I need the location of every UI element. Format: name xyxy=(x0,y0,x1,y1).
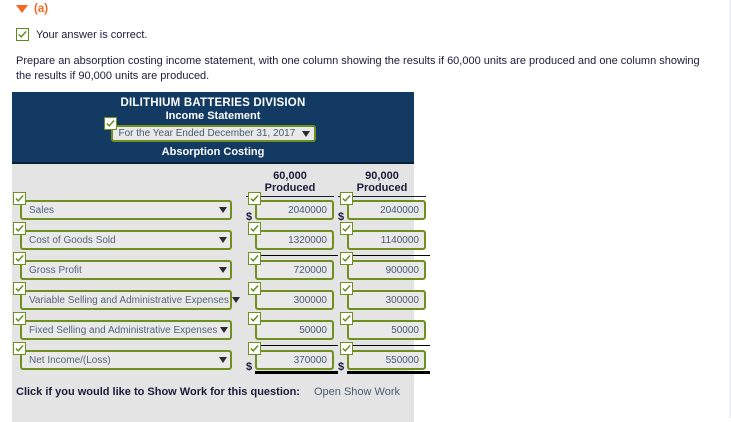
correct-badge-icon xyxy=(13,312,26,325)
table-row: Fixed Selling and Administrative Expense… xyxy=(12,320,414,346)
company-name: DILITHIUM BATTERIES DIVISION xyxy=(12,97,414,109)
account-select-wrapper: Sales xyxy=(20,200,232,220)
correct-badge-icon xyxy=(248,252,261,265)
amount-input[interactable]: 50000 xyxy=(255,320,334,340)
amount-cell: 50000 xyxy=(347,320,426,340)
amount-cell: $550000 xyxy=(347,350,426,370)
correct-badge-icon xyxy=(248,192,261,205)
amount-cell: 300000 xyxy=(255,290,334,310)
part-label: (a) xyxy=(34,3,48,15)
account-select-wrapper: Variable Selling and Administrative Expe… xyxy=(20,290,232,310)
account-select-wrapper: Cost of Goods Sold xyxy=(20,230,232,250)
statement-body: 60,000 Produced 90,000 Produced Sales$20… xyxy=(12,164,414,422)
column-headers: 60,000 Produced 90,000 Produced xyxy=(12,164,414,198)
amount-input[interactable]: 2040000 xyxy=(347,200,426,220)
amount-input[interactable]: 2040000 xyxy=(255,200,334,220)
chevron-down-icon[interactable] xyxy=(219,207,227,213)
amount-input[interactable]: 900000 xyxy=(347,260,426,280)
report-name: Income Statement xyxy=(12,110,414,122)
account-select[interactable]: Cost of Goods Sold xyxy=(20,230,232,250)
period-select[interactable]: For the Year Ended December 31, 2017 xyxy=(111,125,316,142)
account-select-wrapper: Net Income/(Loss) xyxy=(20,350,232,370)
amount-input[interactable]: 50000 xyxy=(347,320,426,340)
subtotal-rule xyxy=(255,345,338,346)
correct-badge-icon xyxy=(13,342,26,355)
correct-badge-icon xyxy=(248,282,261,295)
amount-cell: 1320000 xyxy=(255,230,334,250)
account-value: Gross Profit xyxy=(29,265,216,276)
correct-badge-icon xyxy=(340,252,353,265)
amount-input[interactable]: 1320000 xyxy=(255,230,334,250)
amount-input[interactable]: 550000 xyxy=(347,350,426,370)
amount-cell: $2040000 xyxy=(255,200,334,220)
correct-badge-icon xyxy=(340,282,353,295)
correct-badge-icon xyxy=(13,192,26,205)
account-select[interactable]: Variable Selling and Administrative Expe… xyxy=(20,290,232,310)
correct-badge-icon xyxy=(340,342,353,355)
currency-symbol: $ xyxy=(338,361,344,373)
income-statement-table: DILITHIUM BATTERIES DIVISION Income Stat… xyxy=(12,92,414,422)
account-select-wrapper: Gross Profit xyxy=(20,260,232,280)
table-row: Variable Selling and Administrative Expe… xyxy=(12,290,414,316)
amount-cell: 720000 xyxy=(255,260,334,280)
amount-cell: $370000 xyxy=(255,350,334,370)
account-value: Net Income/(Loss) xyxy=(29,355,216,366)
amount-input[interactable]: 300000 xyxy=(347,290,426,310)
account-select-wrapper: Fixed Selling and Administrative Expense… xyxy=(20,320,232,340)
subtotal-rule xyxy=(347,345,430,346)
check-icon xyxy=(16,28,29,41)
correct-badge-icon xyxy=(340,222,353,235)
account-value: Variable Selling and Administrative Expe… xyxy=(29,295,229,306)
correct-badge-icon xyxy=(13,252,26,265)
table-row: Sales$2040000$2040000 xyxy=(12,200,414,226)
chevron-down-icon[interactable] xyxy=(219,267,227,273)
correct-badge-icon xyxy=(340,312,353,325)
correct-badge-icon xyxy=(248,342,261,355)
account-value: Fixed Selling and Administrative Expense… xyxy=(29,325,217,336)
show-work-label: Click if you would like to Show Work for… xyxy=(16,386,300,398)
amount-cell: 900000 xyxy=(347,260,426,280)
amount-input[interactable]: 300000 xyxy=(255,290,334,310)
chevron-down-icon[interactable] xyxy=(220,327,228,333)
correct-badge-icon xyxy=(104,117,117,130)
account-select[interactable]: Fixed Selling and Administrative Expense… xyxy=(20,320,232,340)
amount-input[interactable]: 370000 xyxy=(255,350,334,370)
chevron-down-icon[interactable] xyxy=(219,357,227,363)
question-prompt: Prepare an absorption costing income sta… xyxy=(16,54,716,84)
table-row: Gross Profit720000900000 xyxy=(12,260,414,286)
correct-badge-icon xyxy=(248,222,261,235)
amount-cell: 1140000 xyxy=(347,230,426,250)
amount-cell: 50000 xyxy=(255,320,334,340)
amount-cell: $2040000 xyxy=(347,200,426,220)
account-select[interactable]: Sales xyxy=(20,200,232,220)
part-header[interactable]: (a) xyxy=(16,3,48,15)
chevron-down-icon[interactable] xyxy=(232,297,240,303)
show-work-footer: Click if you would like to Show Work for… xyxy=(16,386,400,398)
subtotal-rule xyxy=(347,255,430,256)
table-row: Cost of Goods Sold13200001140000 xyxy=(12,230,414,256)
amount-input[interactable]: 720000 xyxy=(255,260,334,280)
triangle-down-icon[interactable] xyxy=(16,5,28,13)
account-value: Cost of Goods Sold xyxy=(29,235,216,246)
period-value: For the Year Ended December 31, 2017 xyxy=(119,128,299,139)
feedback-text: Your answer is correct. xyxy=(36,29,147,41)
correct-badge-icon xyxy=(13,222,26,235)
correct-badge-icon xyxy=(248,312,261,325)
table-row: Net Income/(Loss)$370000$550000 xyxy=(12,350,414,376)
open-show-work-link[interactable]: Open Show Work xyxy=(314,386,400,398)
account-select[interactable]: Net Income/(Loss) xyxy=(20,350,232,370)
currency-symbol: $ xyxy=(246,361,252,373)
chevron-down-icon[interactable] xyxy=(302,131,310,137)
correct-badge-icon xyxy=(340,192,353,205)
period-select-wrapper: For the Year Ended December 31, 2017 xyxy=(111,125,316,142)
account-select[interactable]: Gross Profit xyxy=(20,260,232,280)
correct-badge-icon xyxy=(13,282,26,295)
answer-feedback: Your answer is correct. xyxy=(16,28,147,41)
chevron-down-icon[interactable] xyxy=(219,237,227,243)
costing-method: Absorption Costing xyxy=(12,146,414,158)
statement-header: DILITHIUM BATTERIES DIVISION Income Stat… xyxy=(12,92,414,164)
account-value: Sales xyxy=(29,205,216,216)
amount-cell: 300000 xyxy=(347,290,426,310)
column-header-1-amount: 60,000 xyxy=(246,170,334,182)
column-header-2-amount: 90,000 xyxy=(338,170,426,182)
subtotal-rule xyxy=(255,255,338,256)
amount-input[interactable]: 1140000 xyxy=(347,230,426,250)
